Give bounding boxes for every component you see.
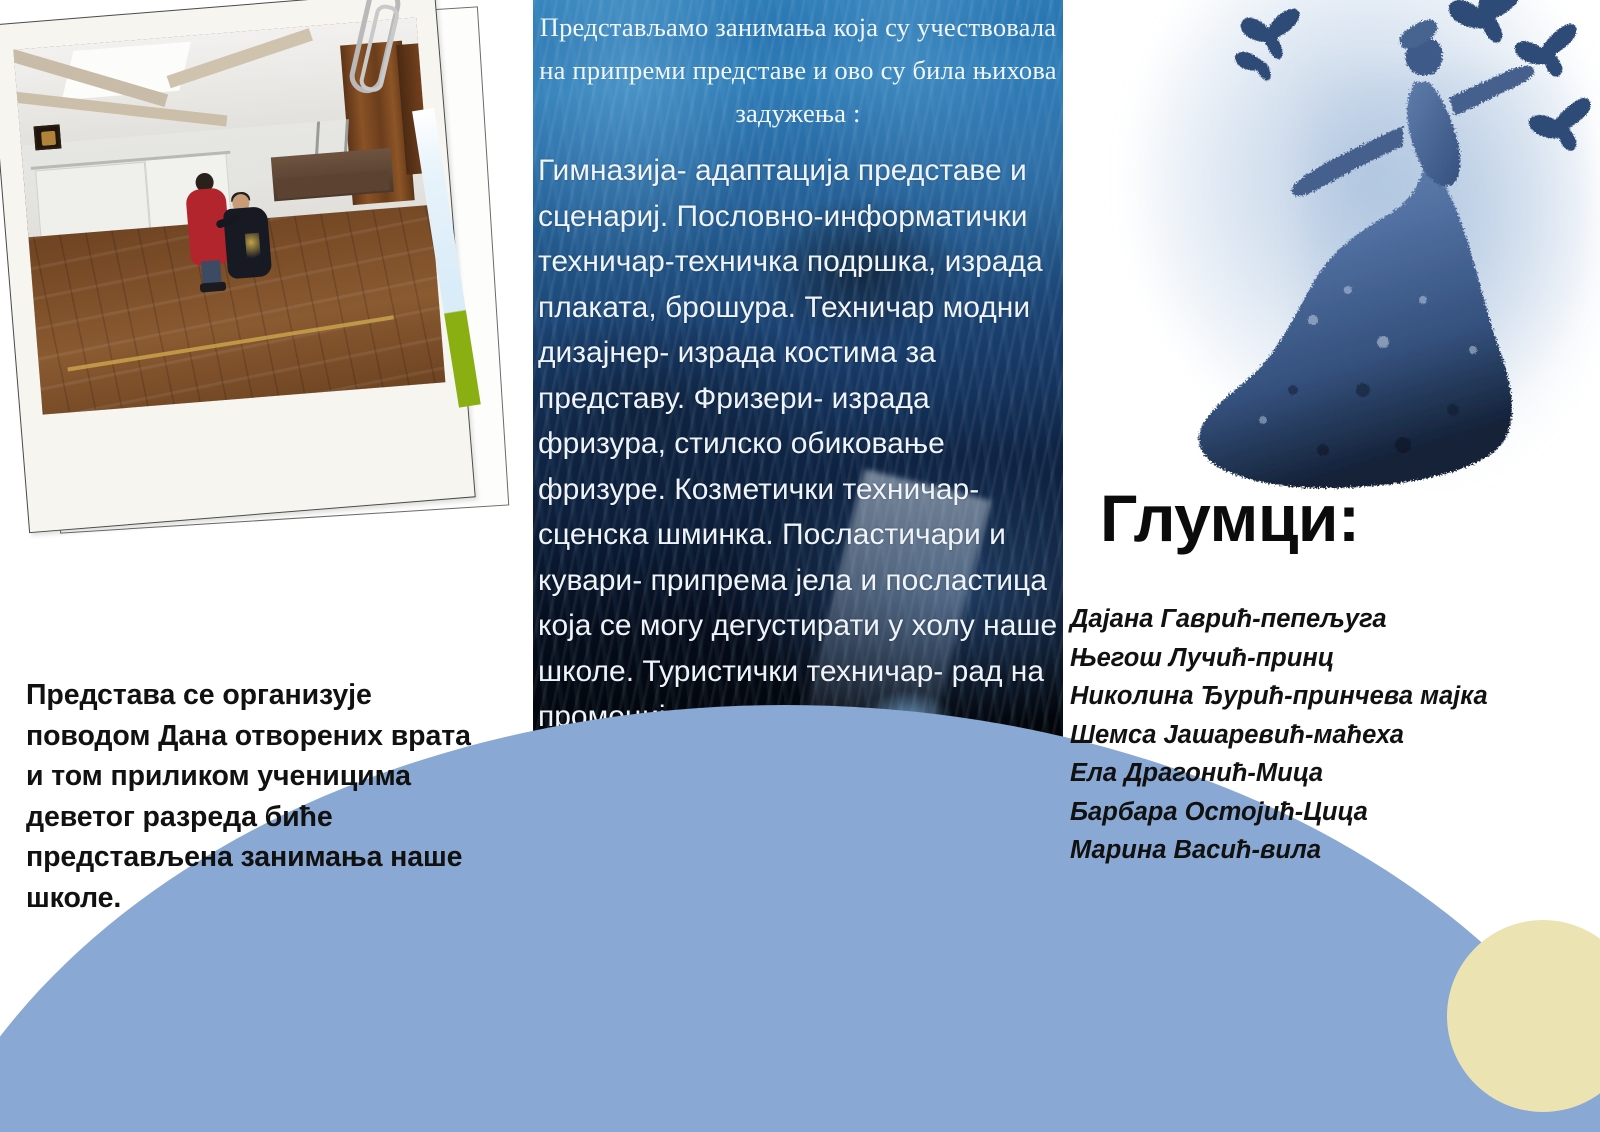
cinderella-silhouette-icon: [1063, 0, 1600, 490]
polaroid-front-frame: [0, 0, 476, 533]
cinderella-artwork: [1063, 0, 1600, 490]
cast-list: Дајана Гаврић-пепељуга Његош Лучић-принц…: [1070, 600, 1590, 870]
cast-item: Дајана Гаврић-пепељуга: [1070, 600, 1590, 639]
cast-item: Марина Васић-вила: [1070, 831, 1590, 870]
center-image-panel: Представљамо занимања која су учествовал…: [533, 0, 1063, 760]
cast-heading: Глумци:: [1100, 480, 1359, 556]
panel-body-text: Гимназија- адаптација представе и сценар…: [533, 148, 1063, 740]
intro-paragraph: Представа се организује поводом Дана отв…: [26, 675, 496, 918]
cast-item: Шемса Јашаревић-маћеха: [1070, 716, 1590, 755]
cast-item: Његош Лучић-принц: [1070, 639, 1590, 678]
cast-item: Николина Ђурић-принчева мајка: [1070, 677, 1590, 716]
photo-framed-icon: [34, 124, 62, 150]
cast-item: Барбара Остојић-Цица: [1070, 793, 1590, 832]
cast-item: Ела Драгонић-Мица: [1070, 754, 1590, 793]
panel-heading: Представљамо занимања која су учествовал…: [533, 6, 1063, 135]
slide-canvas: Представљамо занимања која су учествовал…: [0, 0, 1600, 1132]
photo-actor-kneeling-prince: [222, 192, 277, 288]
